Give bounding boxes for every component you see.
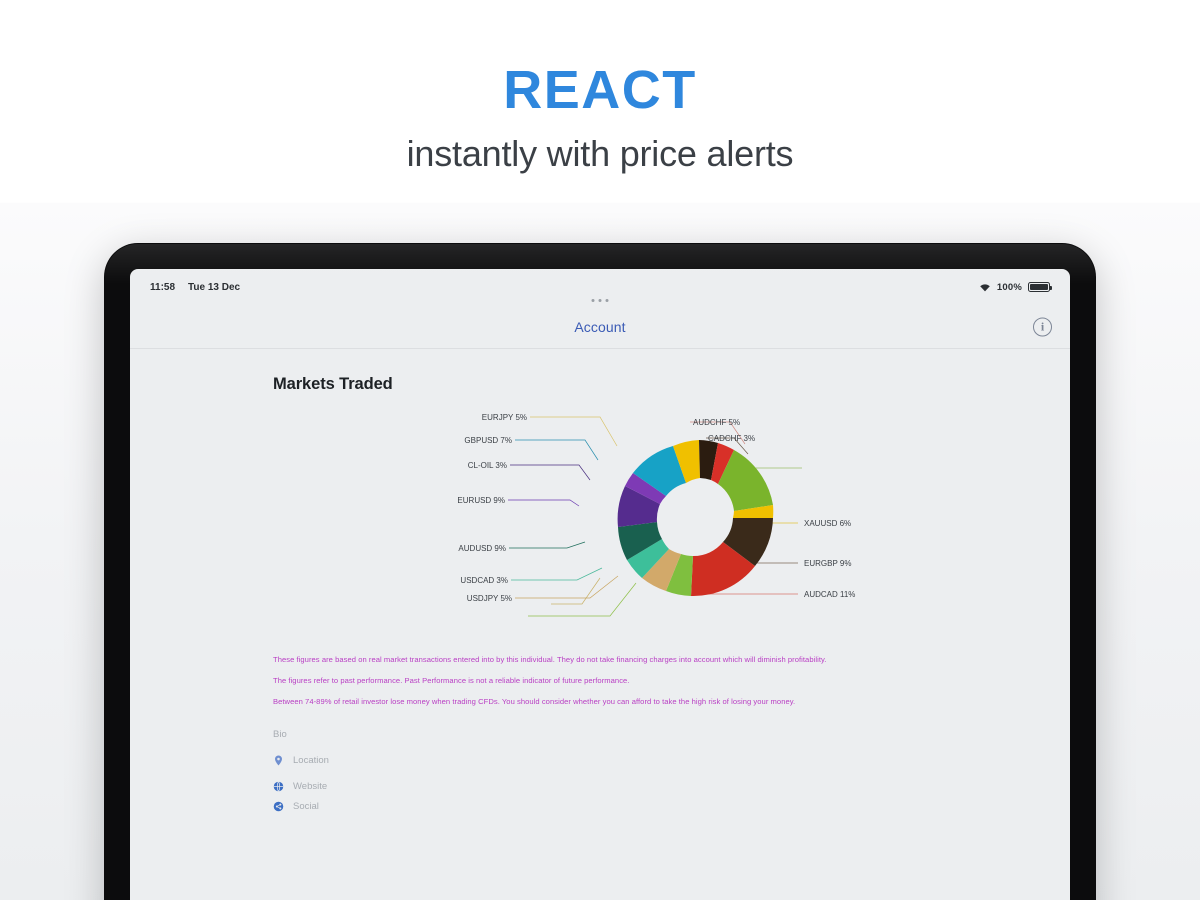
share-icon — [273, 801, 284, 812]
info-icon[interactable]: i — [1033, 317, 1052, 336]
disclaimer-paragraph-1: The figures refer to past performance. P… — [273, 675, 893, 687]
chart-label-left-3: EURUSD 9% — [457, 496, 505, 505]
tablet-screen: 11:58 Tue 13 Dec 100% — [130, 269, 1070, 900]
chart-label-left-5: USDCAD 3% — [460, 576, 508, 585]
profile-row-bio[interactable]: Bio — [273, 729, 893, 740]
chart-label-left-4: AUDUSD 9% — [458, 544, 506, 553]
profile-row-website[interactable]: Website — [273, 781, 893, 792]
chart-label-right-1: CADCHF 3% — [708, 434, 755, 443]
status-bar-time: 11:58 — [150, 282, 175, 293]
poster-canvas: REACT instantly with price alerts 11:58 … — [0, 0, 1200, 900]
bio-label: Bio — [273, 729, 287, 740]
chart-label-right-2: XAUUSD 6% — [804, 519, 851, 528]
disclaimer-paragraph-2: Between 74-89% of retail investor lose m… — [273, 696, 893, 708]
globe-icon — [273, 781, 284, 792]
profile-row-social[interactable]: Social — [273, 801, 893, 812]
tablet-device-frame: 11:58 Tue 13 Dec 100% — [104, 243, 1096, 900]
donut-chart-svg: EURJPY 5% GBPUSD 7% CL-OIL 3% EURUSD 9% … — [130, 408, 1070, 628]
chart-label-left-0: EURJPY 5% — [482, 413, 527, 422]
multitasking-dots-icon[interactable] — [592, 299, 609, 302]
hero-title: REACT — [503, 62, 697, 119]
disclaimer-block: These figures are based on real market t… — [273, 654, 893, 707]
markets-traded-heading: Markets Traded — [273, 375, 1070, 394]
chart-label-left-6: USDJPY 5% — [467, 594, 512, 603]
wifi-icon — [979, 283, 991, 292]
chart-label-right-3: EURGBP 9% — [804, 559, 851, 568]
disclaimer-paragraph-0: These figures are based on real market t… — [273, 654, 893, 666]
chart-label-right-4: AUDCAD 11% — [804, 590, 855, 599]
page-title: Account — [574, 319, 625, 335]
chart-label-left-2: CL-OIL 3% — [468, 461, 507, 470]
battery-full-icon — [1028, 282, 1050, 292]
hero-subtitle: instantly with price alerts — [407, 133, 794, 175]
battery-percent-label: 100% — [997, 282, 1022, 293]
account-content: Markets Traded — [130, 349, 1070, 900]
chart-label-left-1: GBPUSD 7% — [464, 436, 512, 445]
nav-bar: Account i — [130, 305, 1070, 349]
donut-slices — [618, 440, 774, 596]
status-bar-date: Tue 13 Dec — [188, 282, 240, 293]
profile-row-location[interactable]: Location — [273, 755, 893, 766]
chart-label-right-0: AUDCHF 5% — [693, 418, 740, 427]
website-label: Website — [293, 781, 327, 792]
location-label: Location — [293, 755, 329, 766]
location-pin-icon — [273, 755, 284, 766]
social-label: Social — [293, 801, 319, 812]
profile-fields: Bio Location — [273, 729, 893, 812]
hero-section: REACT instantly with price alerts — [0, 0, 1200, 202]
markets-traded-donut-chart: EURJPY 5% GBPUSD 7% CL-OIL 3% EURUSD 9% … — [130, 408, 1070, 628]
